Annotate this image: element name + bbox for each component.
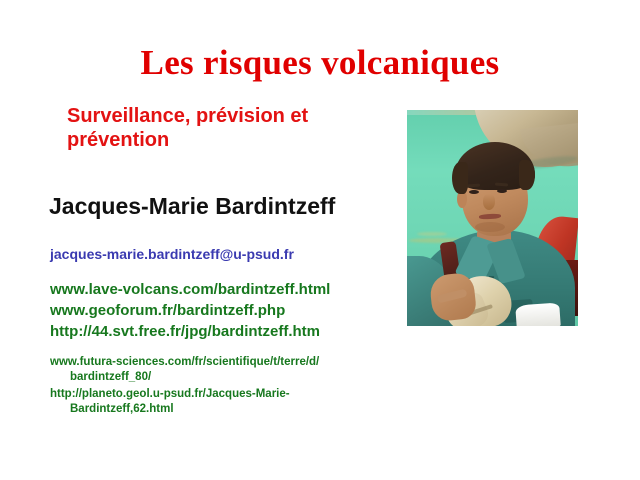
link-item[interactable]: www.geoforum.fr/bardintzeff.php	[50, 300, 330, 321]
page-title: Les risques volcaniques	[0, 44, 640, 82]
primary-links-list: www.lave-volcans.com/bardintzeff.html ww…	[50, 279, 330, 342]
chin	[475, 222, 505, 232]
link-text-line-1: www.futura-sciences.com/fr/scientifique/…	[50, 356, 319, 368]
secondary-links-list: www.futura-sciences.com/fr/scientifique/…	[50, 355, 319, 419]
eye-left	[469, 190, 479, 194]
link-text-line-2: Bardintzeff,62.html	[50, 402, 319, 417]
slide-subtitle: Surveillance, prévision et prévention	[67, 104, 397, 152]
hair-side-left	[452, 162, 468, 194]
email-link[interactable]: jacques-marie.bardintzeff@u-psud.fr	[50, 245, 294, 263]
link-item[interactable]: www.lave-volcans.com/bardintzeff.html	[50, 279, 330, 300]
hair-side-right	[519, 160, 535, 190]
presentation-slide: Les risques volcaniques Surveillance, pr…	[0, 0, 640, 480]
eye-right	[497, 189, 507, 193]
water-streak	[417, 232, 447, 236]
link-item[interactable]: http://planeto.geol.u-psud.fr/Jacques-Ma…	[50, 387, 319, 417]
author-name: Jacques-Marie Bardintzeff	[49, 193, 335, 220]
author-portrait-photo	[407, 110, 578, 326]
link-text-line-1: http://planeto.geol.u-psud.fr/Jacques-Ma…	[50, 388, 290, 400]
link-text-line-2: bardintzeff_80/	[50, 370, 319, 385]
white-paper	[515, 302, 561, 326]
link-item[interactable]: www.futura-sciences.com/fr/scientifique/…	[50, 355, 319, 385]
nose	[483, 194, 495, 210]
link-item[interactable]: http://44.svt.free.fr/jpg/bardintzeff.ht…	[50, 321, 330, 342]
